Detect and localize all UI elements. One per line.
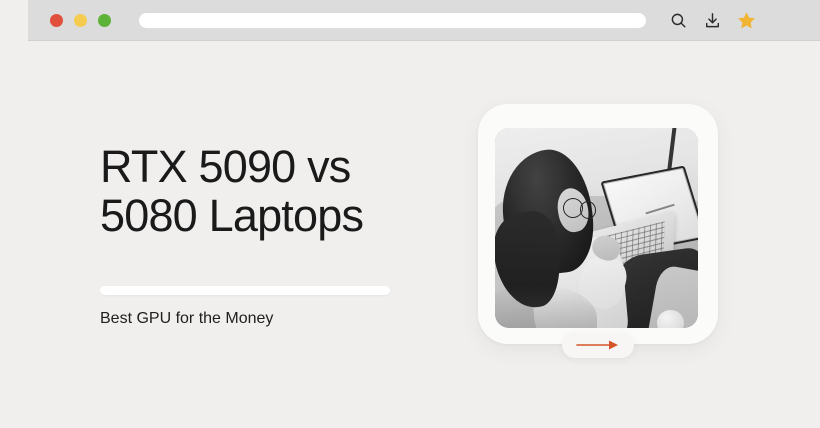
search-icon[interactable] [668, 10, 688, 30]
laptop-user-photo [495, 128, 698, 328]
hero-image-card [478, 104, 718, 344]
arrow-right-icon [576, 339, 620, 351]
page-subtitle: Best GPU for the Money [100, 308, 273, 330]
minimize-window-button[interactable] [74, 14, 87, 27]
hero-heading-block: RTX 5090 vs 5080 Laptops [100, 143, 430, 240]
divider-bar [100, 286, 390, 295]
address-bar-input[interactable] [139, 13, 646, 28]
photo-canvas [495, 128, 698, 328]
maximize-window-button[interactable] [98, 14, 111, 27]
page-title: RTX 5090 vs 5080 Laptops [100, 143, 430, 240]
browser-toolbar [28, 0, 820, 41]
window-controls [50, 14, 111, 27]
page-content: RTX 5090 vs 5080 Laptops Best GPU for th… [0, 41, 820, 428]
toolbar-actions [668, 10, 756, 30]
star-icon[interactable] [736, 10, 756, 30]
close-window-button[interactable] [50, 14, 63, 27]
download-icon[interactable] [702, 10, 722, 30]
next-arrow-button[interactable] [562, 332, 634, 358]
browser-window: RTX 5090 vs 5080 Laptops Best GPU for th… [0, 0, 820, 428]
